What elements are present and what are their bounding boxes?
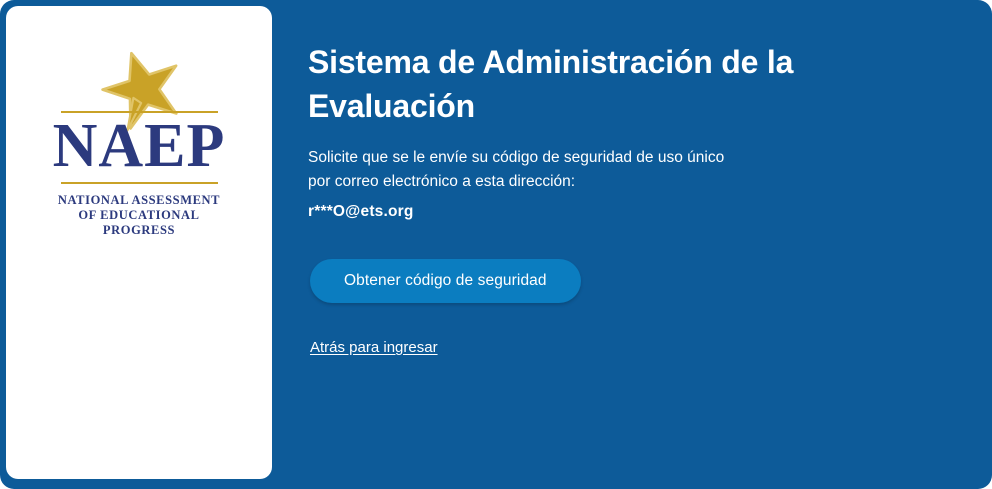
naep-tagline-line-3: PROGRESS xyxy=(6,223,272,238)
login-page-panel: NAEP NATIONAL ASSESSMENT OF EDUCATIONAL … xyxy=(0,0,992,489)
main-content: Sistema de Administración de la Evaluaci… xyxy=(308,0,928,489)
get-security-code-button[interactable]: Obtener código de seguridad xyxy=(310,259,581,303)
naep-star-container xyxy=(6,52,272,114)
naep-tagline-line-2: OF EDUCATIONAL xyxy=(6,208,272,223)
back-to-login-link[interactable]: Atrás para ingresar xyxy=(310,338,438,358)
instructions-text: Solicite que se le envíe su código de se… xyxy=(308,146,748,194)
masked-email-value: r***O@ets.org xyxy=(308,201,414,223)
naep-tagline-line-1: NATIONAL ASSESSMENT xyxy=(6,193,272,208)
page-title: Sistema de Administración de la Evaluaci… xyxy=(308,40,848,128)
naep-wordmark: NAEP xyxy=(6,115,272,177)
naep-tagline: NATIONAL ASSESSMENT OF EDUCATIONAL PROGR… xyxy=(6,193,272,238)
logo-card: NAEP NATIONAL ASSESSMENT OF EDUCATIONAL … xyxy=(6,6,272,479)
naep-logo: NAEP NATIONAL ASSESSMENT OF EDUCATIONAL … xyxy=(6,52,272,238)
logo-rule-bottom xyxy=(61,182,218,184)
